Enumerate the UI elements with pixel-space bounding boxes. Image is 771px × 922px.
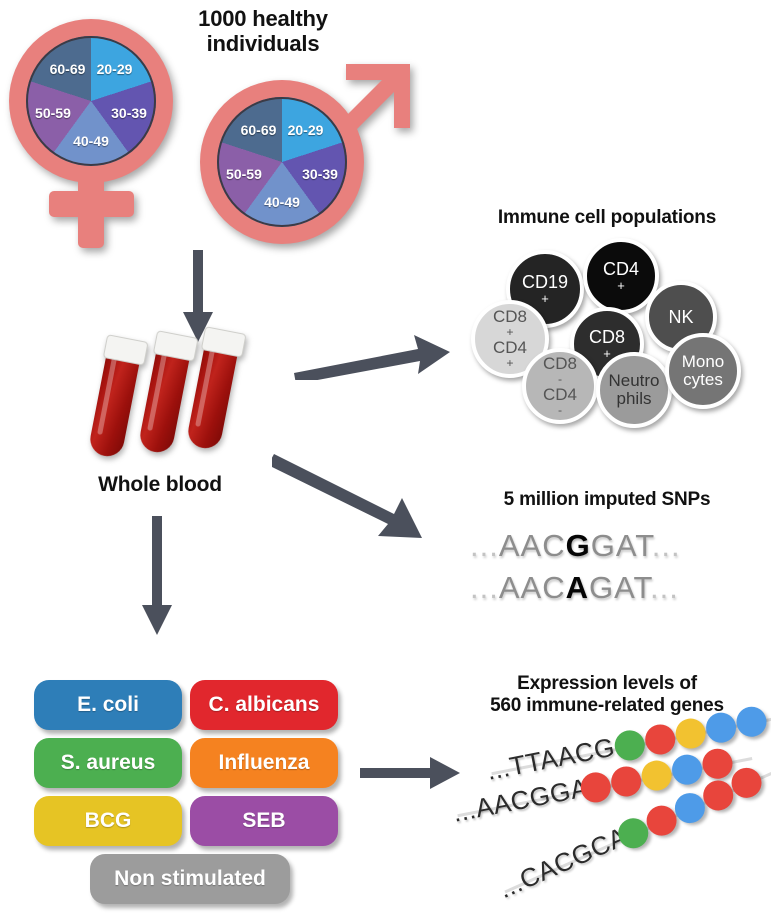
immune-bubble-label: Neutrophils: [608, 372, 659, 408]
expression-bead: [643, 722, 678, 757]
immune-bubble-label: CD8+CD4+: [493, 308, 527, 369]
stimulation-box-label: Non stimulated: [114, 867, 266, 891]
stimulation-box-s-aureus[interactable]: S. aureus: [34, 738, 182, 788]
stimulation-box-label: BCG: [85, 809, 132, 833]
snp-sequence-row: ...AACAGAT...: [470, 570, 679, 606]
immune-bubble-label: NK: [668, 308, 693, 327]
stimulation-box-label: E. coli: [77, 693, 139, 717]
expression-bead: [669, 752, 704, 787]
immune-bubble-CD8CD4[interactable]: CD8-CD4-: [522, 348, 598, 424]
immune-bubble-label: Monocytes: [682, 353, 725, 389]
snp-sequence-row: ...AACGGAT...: [470, 528, 681, 564]
expression-bead: [700, 746, 735, 781]
stimulation-box-e-coli[interactable]: E. coli: [34, 680, 182, 730]
stimulation-box-seb[interactable]: SEB: [190, 796, 338, 846]
immune-bubble-label: CD19+: [522, 273, 568, 305]
stimulation-box-label: SEB: [242, 809, 285, 833]
expression-section-title: Expression levels of 560 immune-related …: [452, 673, 762, 717]
immune-bubble-label: CD8-CD4-: [543, 355, 577, 416]
expression-bead: [639, 758, 674, 793]
stimulation-panel: E. coliC. albicansS. aureusInfluenzaBCGS…: [0, 0, 400, 922]
expression-bead: [673, 716, 708, 751]
expression-title-line1: Expression levels of: [452, 673, 762, 695]
expression-strand-block: ...TTAACGG...AACGGAT...CACGCAA: [440, 730, 771, 922]
figure-canvas: 1000 healthy individuals 20-2930-3940-49…: [0, 0, 771, 922]
stimulation-box-bcg[interactable]: BCG: [34, 796, 182, 846]
stimulation-box-label: S. aureus: [61, 751, 156, 775]
stimulation-box-label: C. albicans: [209, 693, 320, 717]
expression-bead: [609, 764, 644, 799]
stimulation-box-c-albicans[interactable]: C. albicans: [190, 680, 338, 730]
stimulation-box-label: Influenza: [218, 751, 309, 775]
immune-bubble-Monocytes[interactable]: Monocytes: [665, 333, 741, 409]
snp-sequence-block: ...AACGGAT......AACAGAT...: [470, 528, 760, 618]
immune-bubble-Neutrophils[interactable]: Neutrophils: [596, 352, 672, 428]
stimulation-box-influenza[interactable]: Influenza: [190, 738, 338, 788]
stimulation-box-non-stimulated[interactable]: Non stimulated: [90, 854, 290, 904]
snp-section-title: 5 million imputed SNPs: [452, 489, 762, 511]
immune-bubble-label: CD4+: [603, 260, 639, 292]
